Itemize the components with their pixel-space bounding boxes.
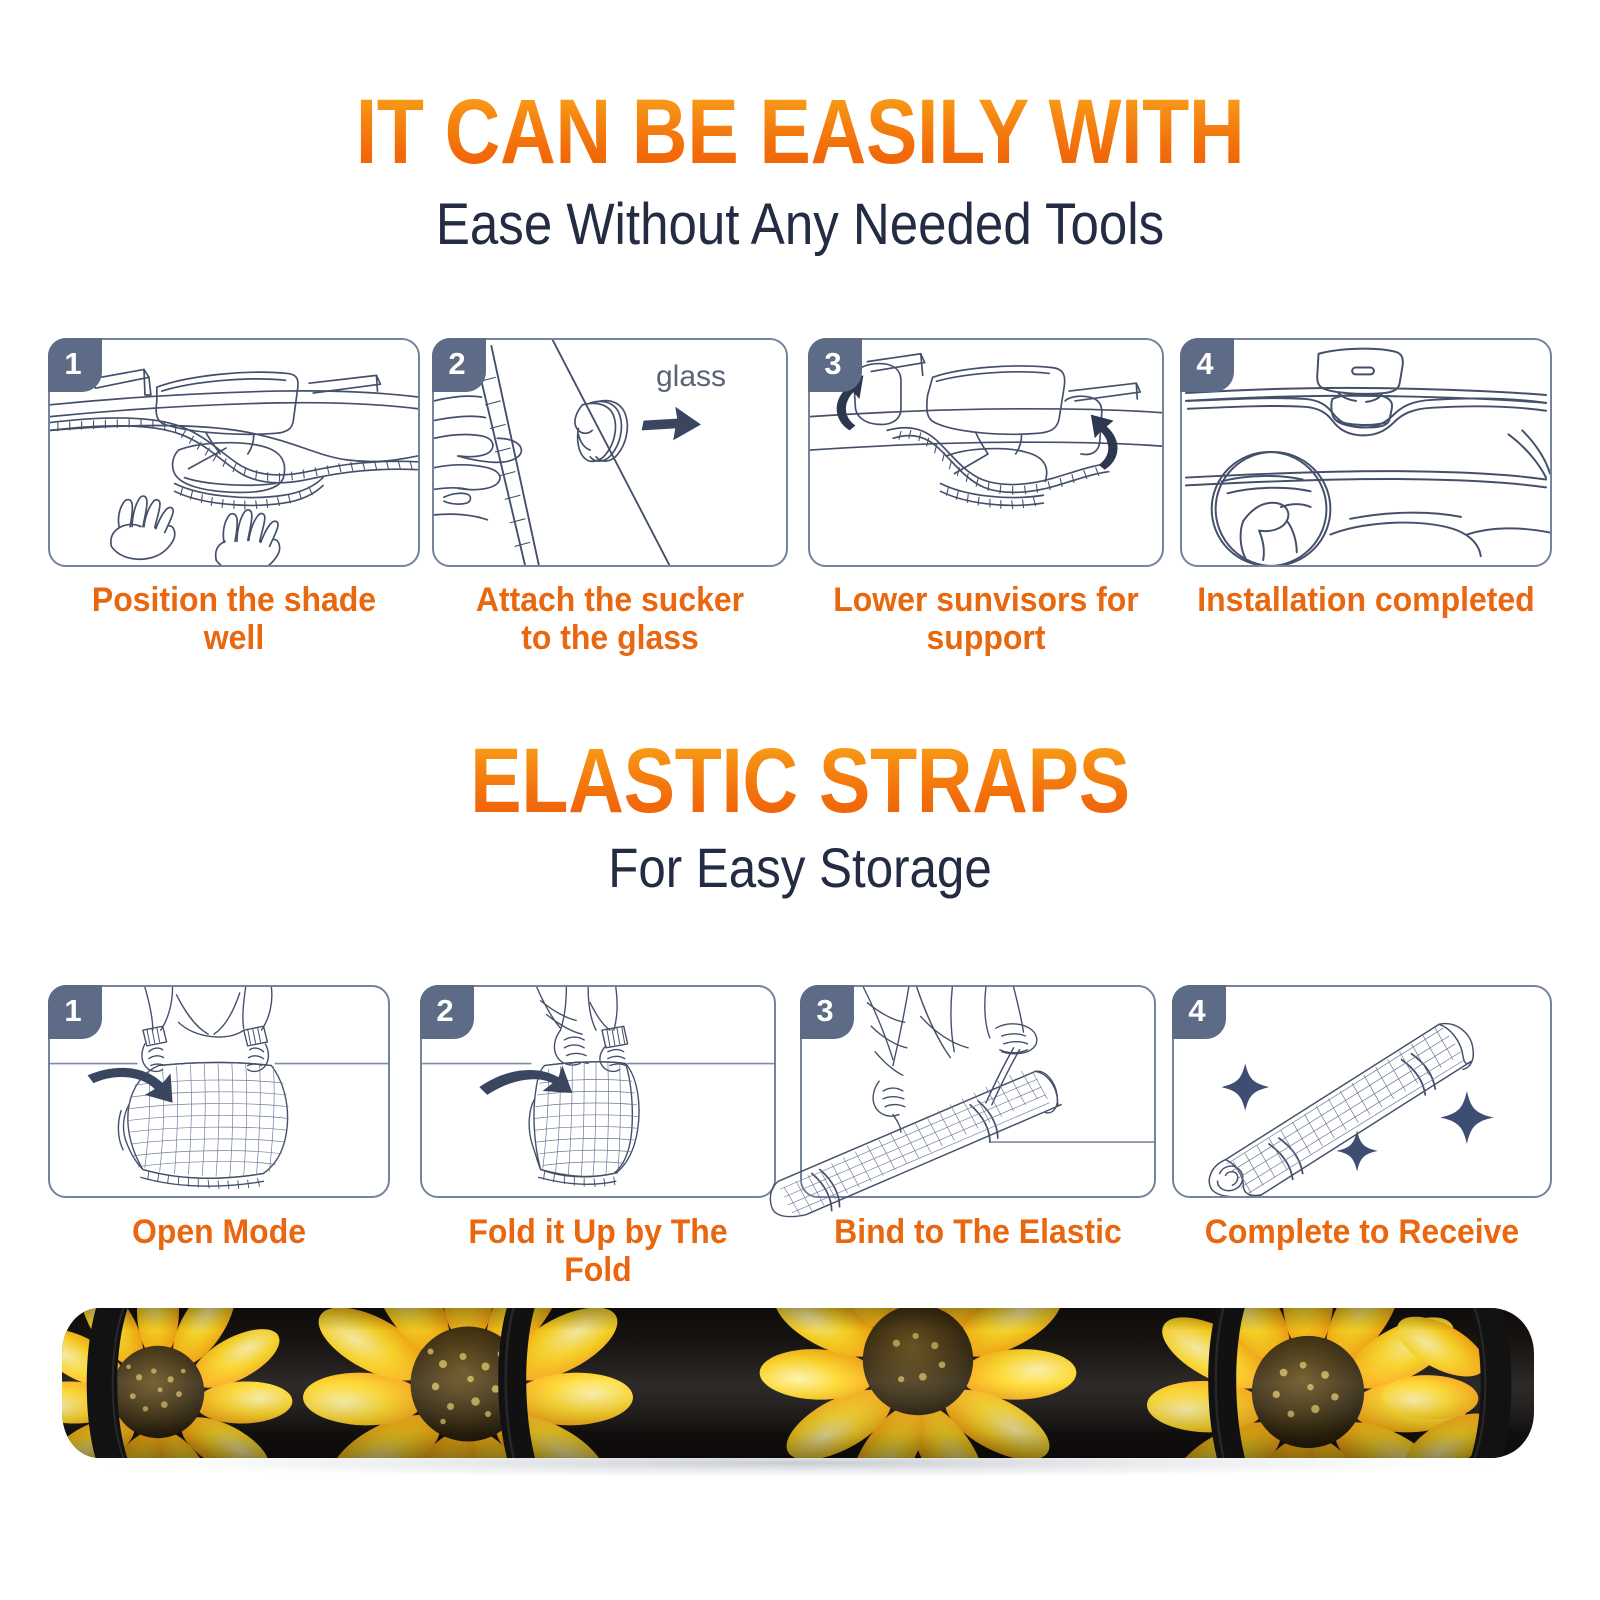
install-step-4-badge: 4 xyxy=(1180,338,1234,392)
storage-step-2-panel[interactable]: 2 xyxy=(420,985,776,1198)
install-step-3-artwork xyxy=(810,340,1162,565)
install-step-1-badge: 1 xyxy=(48,338,102,392)
install-step-2-caption: Attach the sucker to the glass xyxy=(443,581,778,657)
install-step-4-caption: Installation completed xyxy=(1187,581,1544,619)
storage-step-1-panel[interactable]: 1 xyxy=(48,985,390,1198)
install-step-1-caption: Position the shade well xyxy=(59,581,409,657)
install-step-3-badge: 3 xyxy=(808,338,862,392)
install-step-2-badge: 2 xyxy=(432,338,486,392)
install-step-4-artwork xyxy=(1182,340,1550,565)
storage-steps-row: 1 Open Mode xyxy=(0,985,1600,1275)
install-step-3-panel[interactable]: 3 xyxy=(808,338,1164,567)
storage-step-4-panel[interactable]: 4 xyxy=(1172,985,1552,1198)
storage-step-3-badge: 3 xyxy=(800,985,854,1039)
section-1-subtitle: Ease Without Any Needed Tools xyxy=(96,196,1504,254)
storage-step-3-artwork xyxy=(802,987,1154,1196)
storage-step-1-badge: 1 xyxy=(48,985,102,1039)
storage-step-1-caption: Open Mode xyxy=(58,1213,379,1251)
install-step-2-artwork xyxy=(434,340,786,565)
section-2-subtitle: For Easy Storage xyxy=(96,840,1504,896)
infographic-page: IT CAN BE EASILY WITH Ease Without Any N… xyxy=(0,0,1600,1600)
section-2-title: ELASTIC STRAPS xyxy=(128,735,1472,827)
storage-step-3-caption: Bind to The Elastic xyxy=(811,1213,1146,1251)
install-step-1-panel[interactable]: 1 xyxy=(48,338,420,567)
storage-step-2-badge: 2 xyxy=(420,985,474,1039)
storage-step-4-artwork xyxy=(1174,987,1550,1196)
install-step-3-caption: Lower sunvisors for support xyxy=(819,581,1154,657)
install-step-4-panel[interactable]: 4 xyxy=(1180,338,1552,567)
product-photo-rolled-sunshade xyxy=(38,1300,1553,1470)
install-steps-row: 1 Position the shade well xyxy=(0,338,1600,638)
storage-step-2-artwork xyxy=(422,987,774,1196)
storage-step-2-caption: Fold it Up by The Fold xyxy=(431,1213,766,1289)
install-step-2-panel[interactable]: 2 glass xyxy=(432,338,788,567)
install-step-1-artwork xyxy=(50,340,418,565)
section-1-title: IT CAN BE EASILY WITH xyxy=(128,86,1472,178)
storage-step-4-caption: Complete to Receive xyxy=(1183,1213,1540,1251)
storage-step-3-panel[interactable]: 3 xyxy=(800,985,1156,1198)
glass-annotation-label: glass xyxy=(656,360,726,394)
storage-step-4-badge: 4 xyxy=(1172,985,1226,1039)
